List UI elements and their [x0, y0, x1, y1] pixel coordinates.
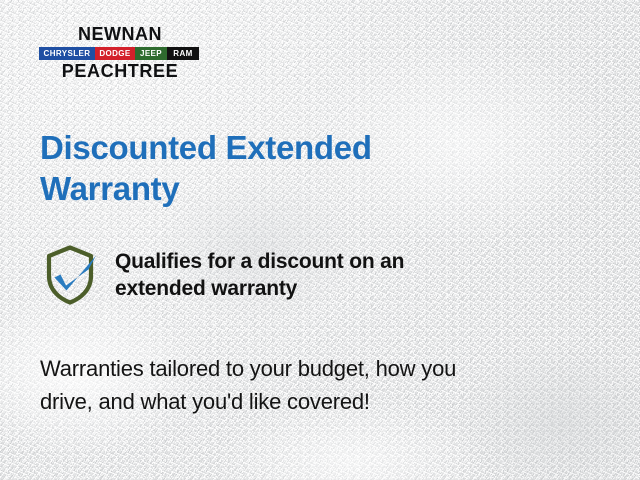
brand-badge-dodge: DODGE	[95, 47, 135, 60]
card-content: NEWNAN CHRYSLER DODGE JEEP RAM PEACHTREE…	[0, 0, 640, 480]
shield-check-icon	[41, 244, 101, 306]
brand-badge-chrysler: CHRYSLER	[39, 47, 95, 60]
feature-text-line-2: extended warranty	[115, 275, 404, 302]
description-text: Warranties tailored to your budget, how …	[40, 352, 595, 418]
brand-badge-bar: CHRYSLER DODGE JEEP RAM	[39, 47, 199, 60]
logo-wordmark-bottom: PEACHTREE	[38, 62, 202, 81]
brand-badge-jeep: JEEP	[135, 47, 167, 60]
feature-text-line-1: Qualifies for a discount on an	[115, 248, 404, 275]
description-line-1: Warranties tailored to your budget, how …	[40, 352, 595, 385]
promo-card: NEWNAN CHRYSLER DODGE JEEP RAM PEACHTREE…	[0, 0, 640, 480]
page-title-line-2: Warranty	[40, 168, 470, 209]
dealer-logo: NEWNAN CHRYSLER DODGE JEEP RAM PEACHTREE	[38, 20, 202, 81]
page-title-line-1: Discounted Extended	[40, 127, 470, 168]
page-title: Discounted Extended Warranty	[40, 127, 470, 209]
logo-wordmark-top: NEWNAN	[38, 20, 202, 45]
brand-badge-ram: RAM	[167, 47, 199, 60]
description-line-2: drive, and what you'd like covered!	[40, 385, 595, 418]
feature-text: Qualifies for a discount on an extended …	[115, 248, 404, 302]
feature-row: Qualifies for a discount on an extended …	[41, 244, 561, 306]
